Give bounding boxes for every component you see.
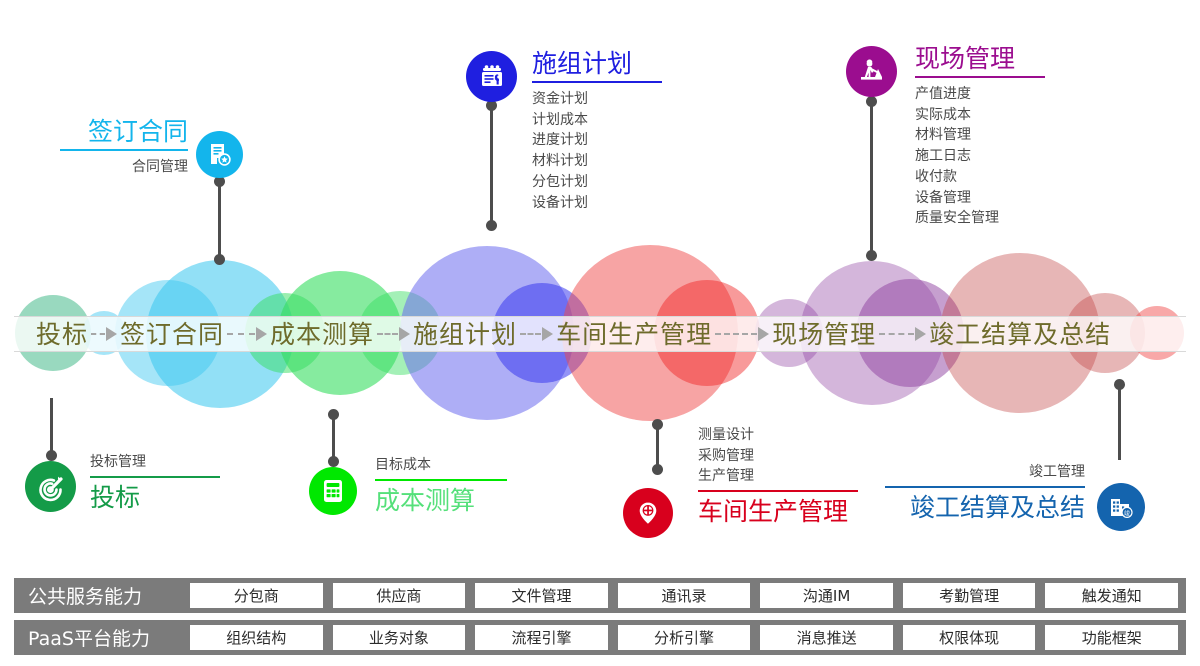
clipboard-wrench-icon[interactable] [466,51,517,102]
connector-dot-completion-top [1114,379,1125,390]
callout-site-title: 现场管理 [915,45,1045,73]
callout-plan-sub-0: 资金计划 [532,89,662,110]
capability-row-public-service: 公共服务能力 分包商供应商文件管理通讯录沟通IM考勤管理触发通知 [14,578,1186,613]
connector-line-plan [490,104,493,226]
capability-row-paas-platform: PaaS平台能力 组织结构业务对象流程引擎分析引擎消息推送权限体现功能框架 [14,620,1186,655]
callout-plan[interactable]: 施组计划 资金计划 计划成本 进度计划 材料计划 分包计划 设备计划 [532,50,662,213]
timeline-arrow-5 [879,327,926,341]
callout-site-sub-4: 收付款 [915,167,1045,188]
callout-site-rule [915,76,1045,78]
connector-line-completion [1118,382,1121,460]
capability-cell[interactable]: 业务对象 [333,625,466,650]
callout-site-sub-3: 施工日志 [915,146,1045,167]
capability-row-1-label: PaaS平台能力 [14,624,190,651]
callout-cost[interactable]: 目标成本 成本测算 [375,455,507,515]
callout-workshop-sub-0: 测量设计 [698,425,858,446]
connector-dot-contract-bottom [214,254,225,265]
process-timeline-band: 投标签订合同成本测算施组计划车间生产管理现场管理竣工结算及总结 [14,316,1186,352]
capability-row-0-label: 公共服务能力 [14,582,190,609]
callout-plan-sub-2: 进度计划 [532,130,662,151]
timeline-stage-2[interactable]: 成本测算 [270,322,374,347]
svg-text:竣: 竣 [1124,509,1130,517]
timeline-arrow-4 [715,327,769,341]
connector-dot-workshop-top [652,419,663,430]
timeline-arrow-0 [91,327,117,341]
callout-completion-rule [885,486,1085,488]
callout-workshop-sub-2: 生产管理 [698,466,858,487]
capability-cell[interactable]: 触发通知 [1045,583,1178,608]
calculator-icon[interactable] [309,467,357,515]
callout-plan-sub-5: 设备计划 [532,193,662,214]
capability-row-1-cells: 组织结构业务对象流程引擎分析引擎消息推送权限体现功能框架 [190,625,1186,650]
callout-site[interactable]: 现场管理 产值进度 实际成本 材料管理 施工日志 收付款 设备管理 质量安全管理 [915,45,1045,229]
connector-line-bid [50,398,53,456]
callout-contract-sub-0: 合同管理 [60,157,188,178]
callout-cost-rule [375,479,507,481]
callout-site-sub-2: 材料管理 [915,125,1045,146]
connector-dot-site-bottom [866,250,877,261]
timeline-stage-list: 投标签订合同成本测算施组计划车间生产管理现场管理竣工结算及总结 [14,322,1111,347]
callout-plan-sub-3: 材料计划 [532,151,662,172]
callout-plan-sub-1: 计划成本 [532,110,662,131]
callout-site-sub-5: 设备管理 [915,188,1045,209]
callout-workshop-title: 车间生产管理 [698,498,858,526]
capability-cell[interactable]: 组织结构 [190,625,323,650]
capability-cell[interactable]: 沟通IM [760,583,893,608]
callout-site-sub-1: 实际成本 [915,105,1045,126]
location-pin-plus-icon[interactable] [623,488,673,538]
callout-site-sub-6: 质量安全管理 [915,208,1045,229]
callout-workshop[interactable]: 测量设计 采购管理 生产管理 车间生产管理 [698,425,858,526]
callout-workshop-rule [698,490,858,492]
target-dart-icon[interactable] [25,461,76,512]
timeline-arrow-1 [227,327,267,341]
callout-cost-sub-0: 目标成本 [375,455,507,476]
timeline-stage-6[interactable]: 竣工结算及总结 [929,322,1111,347]
timeline-stage-5[interactable]: 现场管理 [772,322,876,347]
connector-dot-cost-bottom [328,456,339,467]
callout-bid-sub-0: 投标管理 [90,452,220,473]
timeline-stage-3[interactable]: 施组计划 [413,322,517,347]
connector-dot-plan-bottom [486,220,497,231]
callout-bid[interactable]: 投标管理 投标 [90,452,220,512]
callout-completion-title: 竣工结算及总结 [885,494,1085,522]
connector-dot-cost-top [328,409,339,420]
capability-cell[interactable]: 消息推送 [760,625,893,650]
callout-contract-title: 签订合同 [60,118,188,146]
capability-row-0-cells: 分包商供应商文件管理通讯录沟通IM考勤管理触发通知 [190,583,1186,608]
contract-document-seal-icon[interactable] [196,131,243,178]
callout-plan-rule [532,81,662,83]
connector-line-site [870,100,873,256]
callout-plan-title: 施组计划 [532,50,662,78]
construction-worker-icon[interactable] [846,46,897,97]
timeline-stage-1[interactable]: 签订合同 [120,322,224,347]
capability-cell[interactable]: 通讯录 [618,583,751,608]
connector-dot-bid-bottom [46,450,57,461]
timeline-arrow-2 [377,327,410,341]
capability-cell[interactable]: 功能框架 [1045,625,1178,650]
timeline-stage-4[interactable]: 车间生产管理 [556,322,712,347]
building-complete-icon[interactable]: 竣 [1097,483,1145,531]
infographic-canvas: 投标签订合同成本测算施组计划车间生产管理现场管理竣工结算及总结 签订合同 合同管… [0,0,1200,666]
connector-dot-site-top [866,96,877,107]
callout-site-sub-0: 产值进度 [915,84,1045,105]
callout-contract-rule [60,149,188,151]
capability-cell[interactable]: 文件管理 [475,583,608,608]
connector-dot-workshop-bottom [652,464,663,475]
callout-cost-title: 成本测算 [375,487,507,515]
capability-cell[interactable]: 分析引擎 [618,625,751,650]
timeline-arrow-3 [520,327,553,341]
capability-cell[interactable]: 考勤管理 [903,583,1036,608]
connector-line-contract [218,180,221,260]
callout-bid-rule [90,476,220,478]
capability-cell[interactable]: 供应商 [333,583,466,608]
capability-cell[interactable]: 权限体现 [903,625,1036,650]
callout-bid-title: 投标 [90,484,220,512]
callout-completion-sub-0: 竣工管理 [885,462,1085,483]
capability-cell[interactable]: 分包商 [190,583,323,608]
callout-workshop-sub-1: 采购管理 [698,446,858,467]
timeline-stage-0[interactable]: 投标 [36,322,88,347]
callout-completion[interactable]: 竣工管理 竣工结算及总结 [885,462,1085,522]
capability-cell[interactable]: 流程引擎 [475,625,608,650]
callout-plan-sub-4: 分包计划 [532,172,662,193]
callout-contract[interactable]: 签订合同 合同管理 [60,118,188,178]
